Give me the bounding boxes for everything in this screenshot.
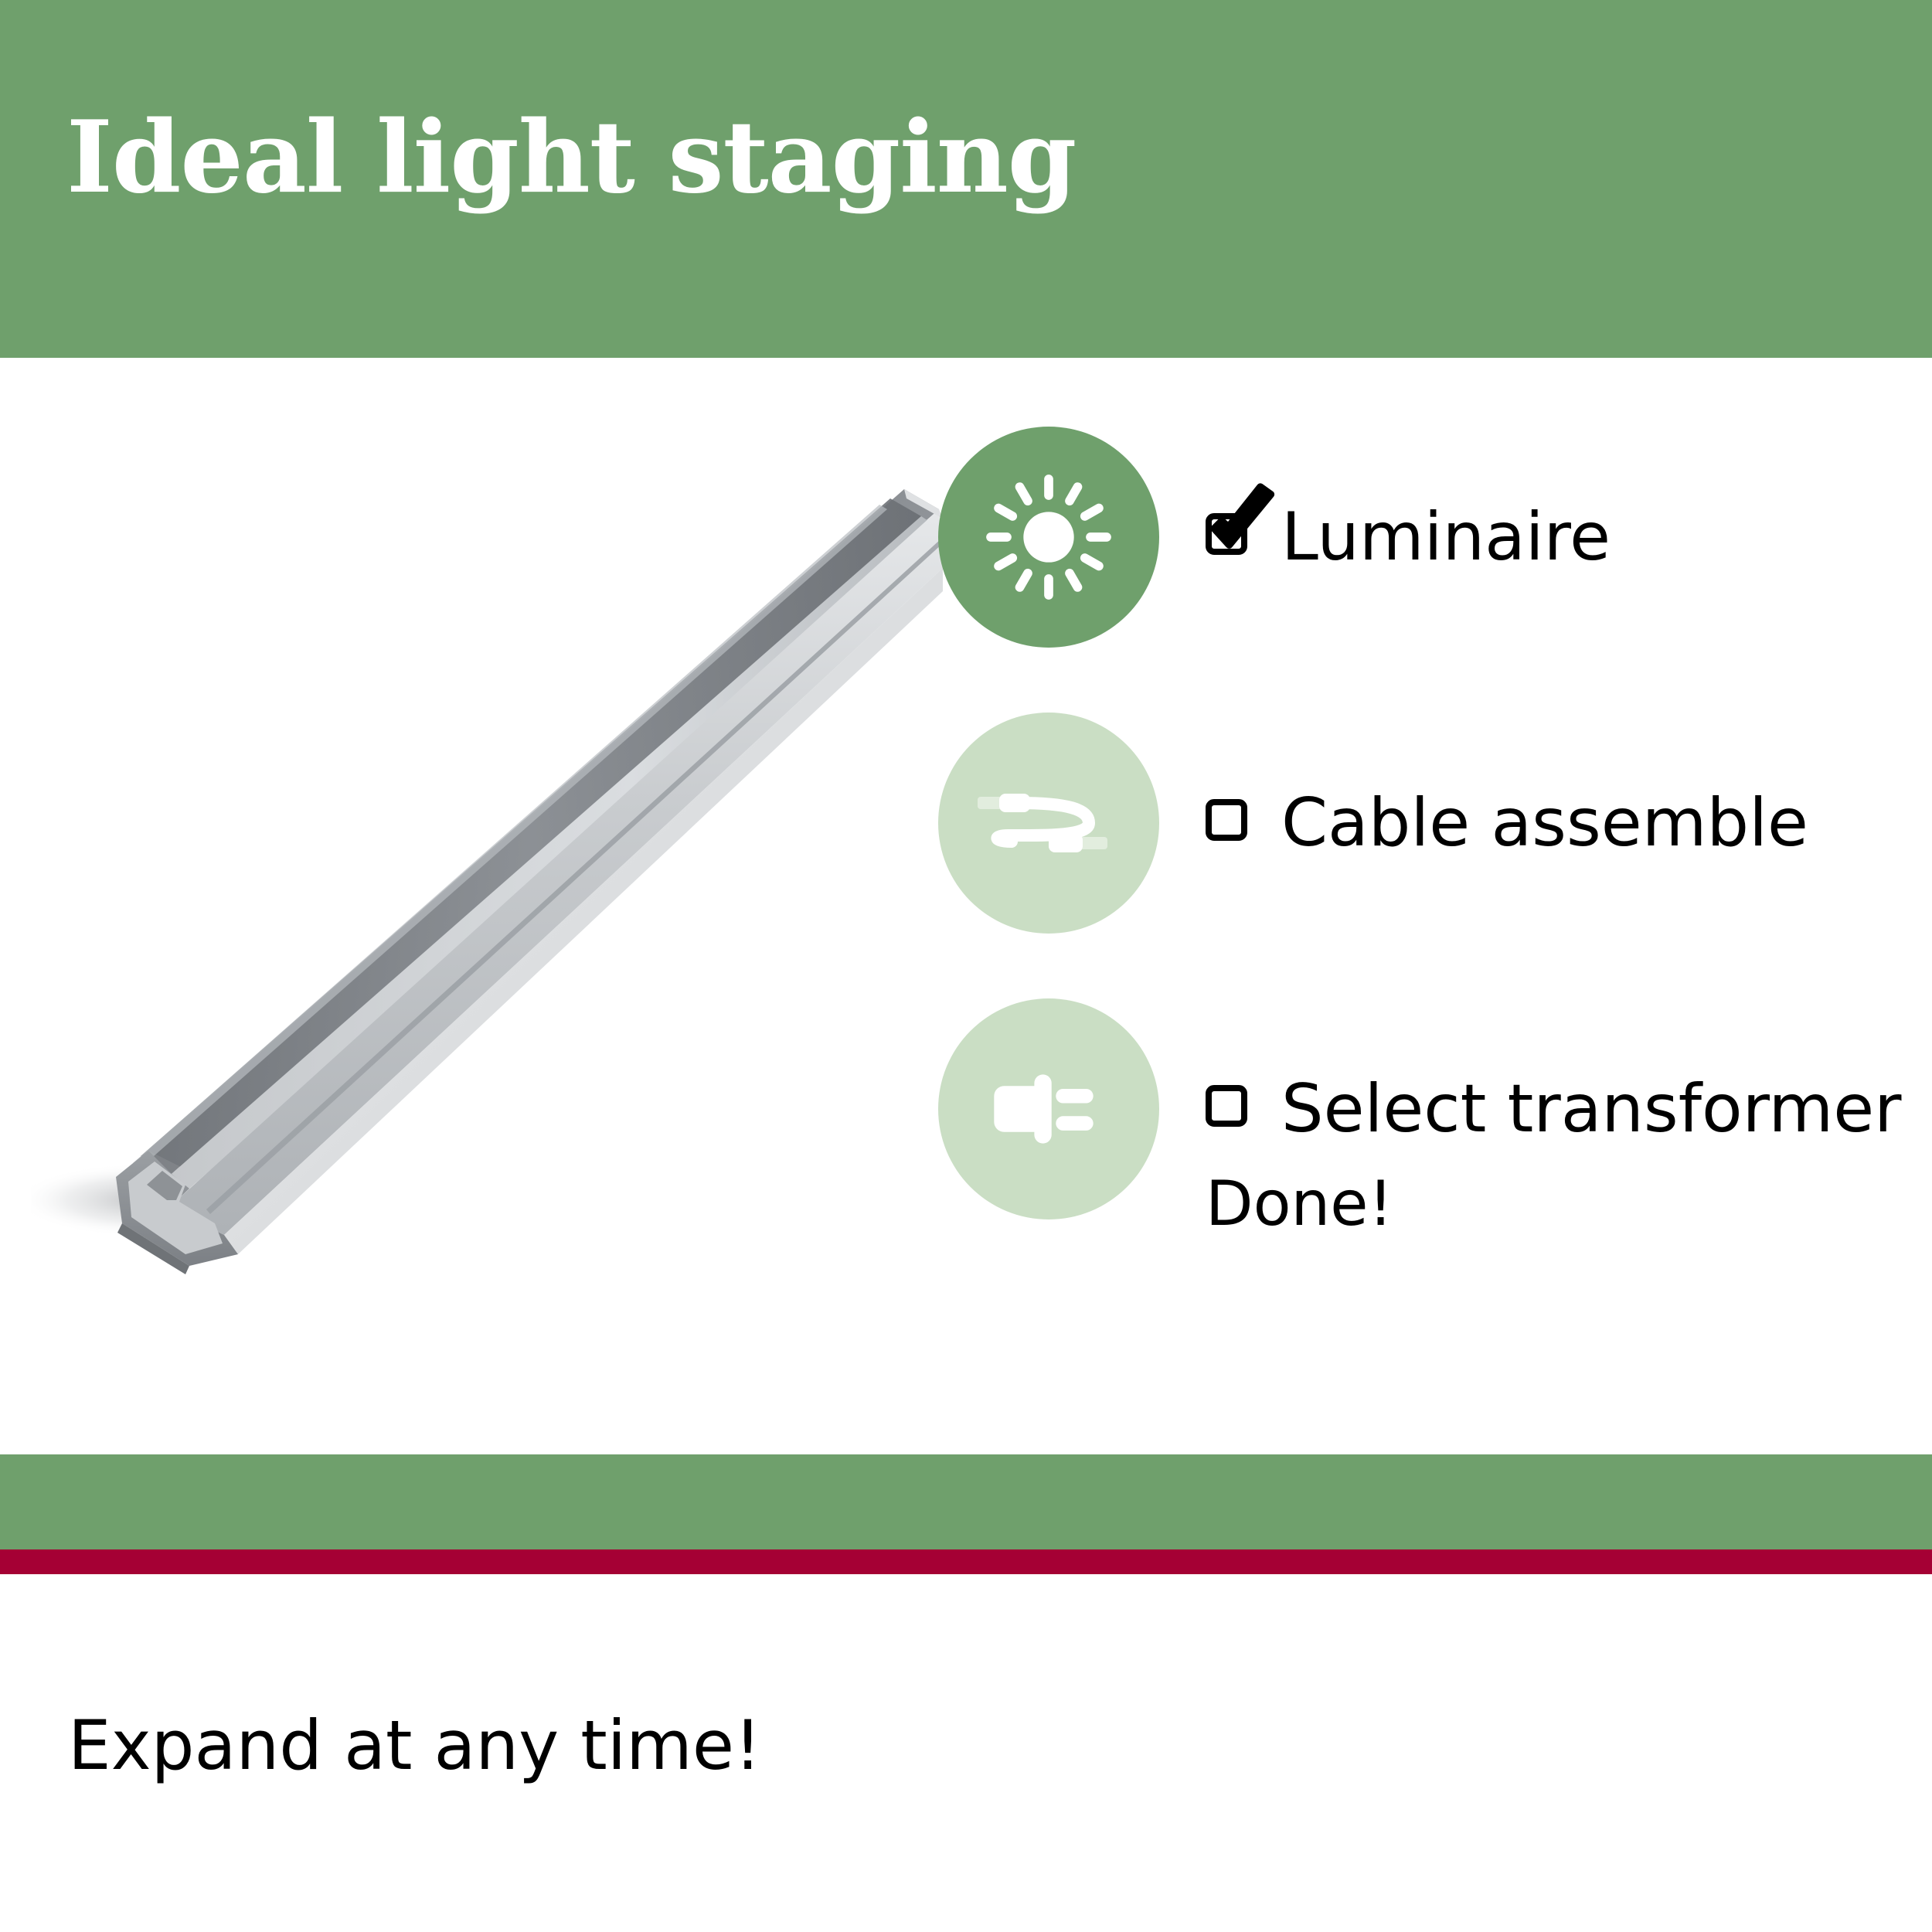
checkbox-luminaire[interactable] xyxy=(1206,513,1253,561)
footer-green-band xyxy=(0,1454,1932,1549)
page-title: Ideal light staging xyxy=(66,108,1076,207)
cable-icon xyxy=(971,746,1126,900)
main-stage: Luminaire Cable assemble xyxy=(0,358,1932,1454)
checklist-row-cable[interactable]: Cable assemble xyxy=(938,713,1904,934)
header-band: Ideal light staging xyxy=(0,0,1932,358)
checklist-label-transformer[interactable]: Select transformer xyxy=(1206,1076,1902,1142)
checklist-row-transformer[interactable]: Select transformer xyxy=(938,998,1904,1219)
checklist-row-luminaire[interactable]: Luminaire xyxy=(938,427,1904,648)
footer-tagline: Expand at any time! xyxy=(68,1712,761,1780)
luminaire-icon-badge xyxy=(938,427,1159,648)
done-label: Done! xyxy=(1206,1173,1393,1235)
cable-icon-badge xyxy=(938,713,1159,934)
footer-accent-line xyxy=(0,1549,1932,1574)
checkbox-box xyxy=(1206,799,1247,841)
checklist-text: Cable assemble xyxy=(1281,790,1808,856)
checklist-label-cable[interactable]: Cable assemble xyxy=(1206,790,1808,856)
checklist-text: Luminaire xyxy=(1281,504,1611,570)
sun-icon xyxy=(982,471,1115,604)
checkbox-cable-assemble[interactable] xyxy=(1206,799,1253,847)
plug-icon-badge xyxy=(938,998,1159,1219)
checkbox-select-transformer[interactable] xyxy=(1206,1085,1253,1133)
plug-icon xyxy=(977,1037,1121,1181)
checklist-label-luminaire[interactable]: Luminaire xyxy=(1206,504,1611,570)
checklist: Luminaire Cable assemble xyxy=(938,427,1904,1284)
checkbox-box xyxy=(1206,1085,1247,1127)
checklist-text: Select transformer xyxy=(1281,1076,1902,1142)
checkmark-icon xyxy=(1202,490,1277,564)
product-image-aluminium-profile xyxy=(31,481,943,1301)
